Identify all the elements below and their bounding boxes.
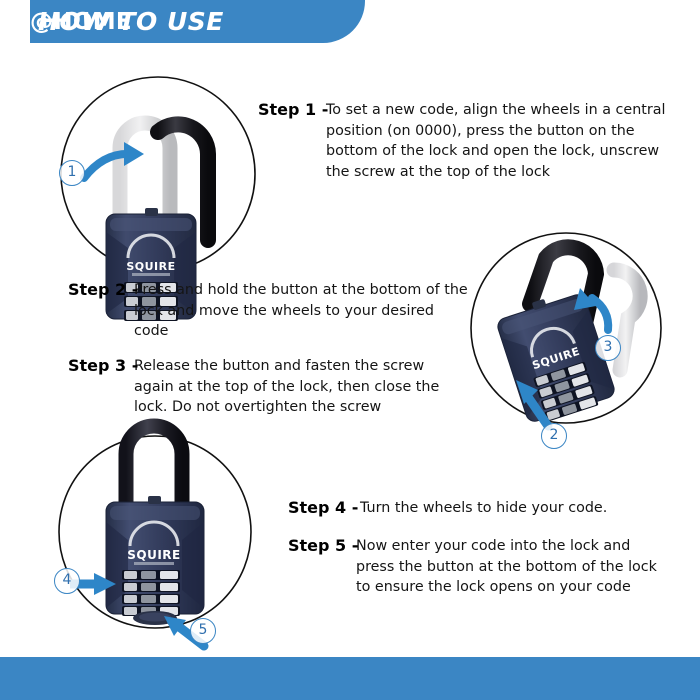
step-2-block: Step 2 - Press and hold the button at th… [68,280,468,342]
footer-brand: @HOME [30,9,132,35]
illustration-2-svg: SQUIRE [468,218,664,440]
badge-3: 3 [595,335,621,361]
step-1-label: Step 1 - [258,100,328,119]
illustration-1-lock-open: SQUIRE [58,72,258,277]
step-3-block: Step 3 - Release the button and fasten t… [68,356,468,418]
step-4-label: Step 4 - [288,498,358,517]
padlock-body: SQUIRE [106,496,204,625]
step-3-text: Release the button and fasten the screw … [134,356,468,418]
step-5-text: Now enter your code into the lock and pr… [356,536,668,598]
illustration-1-svg: SQUIRE [58,72,258,277]
how-to-use-page: HOW TO USE [0,0,700,700]
step-5-block: Step 5 - Now enter your code into the lo… [288,536,668,598]
badge-2: 2 [541,423,567,449]
illustration-2-lock-tilted: SQUIRE [468,218,664,440]
badge-1: 1 [59,160,85,186]
step-4-block: Step 4 - Turn the wheels to hide your co… [288,498,668,519]
illustration-3-lock-closed: SQUIRE [48,424,260,646]
step-1-block: Step 1 - To set a new code, align the wh… [258,100,668,182]
footer-bar [0,657,700,700]
top-screw [145,208,158,216]
step-2-text: Press and hold the button at the bottom … [134,280,468,342]
top-screw [148,496,161,504]
step-4-text: Turn the wheels to hide your code. [360,498,668,519]
badge-5: 5 [190,618,216,644]
badge-4: 4 [54,568,80,594]
step-5-label: Step 5 - [288,536,358,555]
illustration-3-svg: SQUIRE [48,424,260,646]
brand-name: SQUIRE [127,548,181,562]
step-1-text: To set a new code, align the wheels in a… [326,100,668,182]
step-2-label: Step 2 - [68,280,138,299]
brand-name: SQUIRE [126,260,175,273]
step-3-label: Step 3 - [68,356,138,375]
